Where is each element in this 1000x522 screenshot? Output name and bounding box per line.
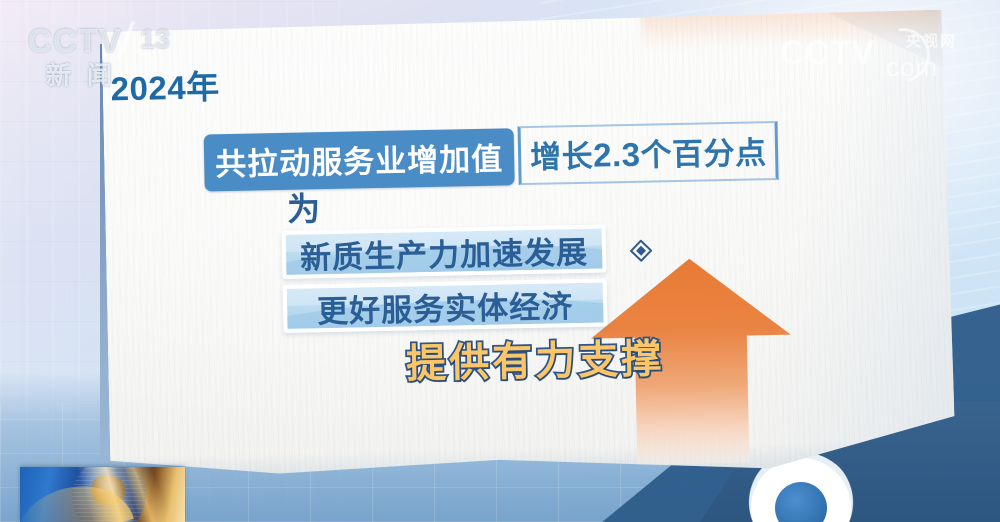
wave-chip-item: 新质生产力加速发展: [282, 224, 607, 278]
diamond-bullet-icon: [630, 240, 652, 262]
globe-graphic: [20, 467, 185, 522]
cctv13-number: 13: [140, 24, 170, 55]
cctv13-cn-name: 新闻: [46, 56, 128, 92]
conclusion-text: 提供有力支撑: [406, 326, 665, 389]
growth-outline-chip: 增长2.3个百分点: [518, 121, 780, 185]
cctv-com-watermark: CCTV 央视网 com: [780, 26, 980, 86]
watermark-cn-brand: 央视网: [906, 30, 957, 51]
wave-chip-label: 新质生产力加速发展: [300, 226, 589, 277]
watermark-domain: com: [886, 52, 938, 83]
cctv13-wordmark: CCTV: [28, 22, 122, 60]
wave-chip-label: 更好服务实体经济: [317, 281, 574, 331]
statistic-line: 共拉动服务业增加值 增长2.3个百分点: [204, 121, 779, 192]
growth-value: 2.3: [593, 136, 641, 174]
growth-prefix: 增长: [530, 139, 594, 175]
growth-suffix: 个百分点: [640, 135, 767, 173]
highlight-chip-primary: 共拉动服务业增加值: [204, 128, 515, 191]
connector-text: 为: [287, 182, 321, 231]
cctv13-logo: CCTV 13 新闻: [28, 22, 178, 92]
wave-chip-item: 更好服务实体经济: [283, 278, 608, 332]
broadcast-screen: 2024年 共拉动服务业增加值 增长2.3个百分点 为 新质生产力加速发展 更好…: [0, 0, 1000, 522]
watermark-brand: CCTV: [780, 34, 875, 73]
